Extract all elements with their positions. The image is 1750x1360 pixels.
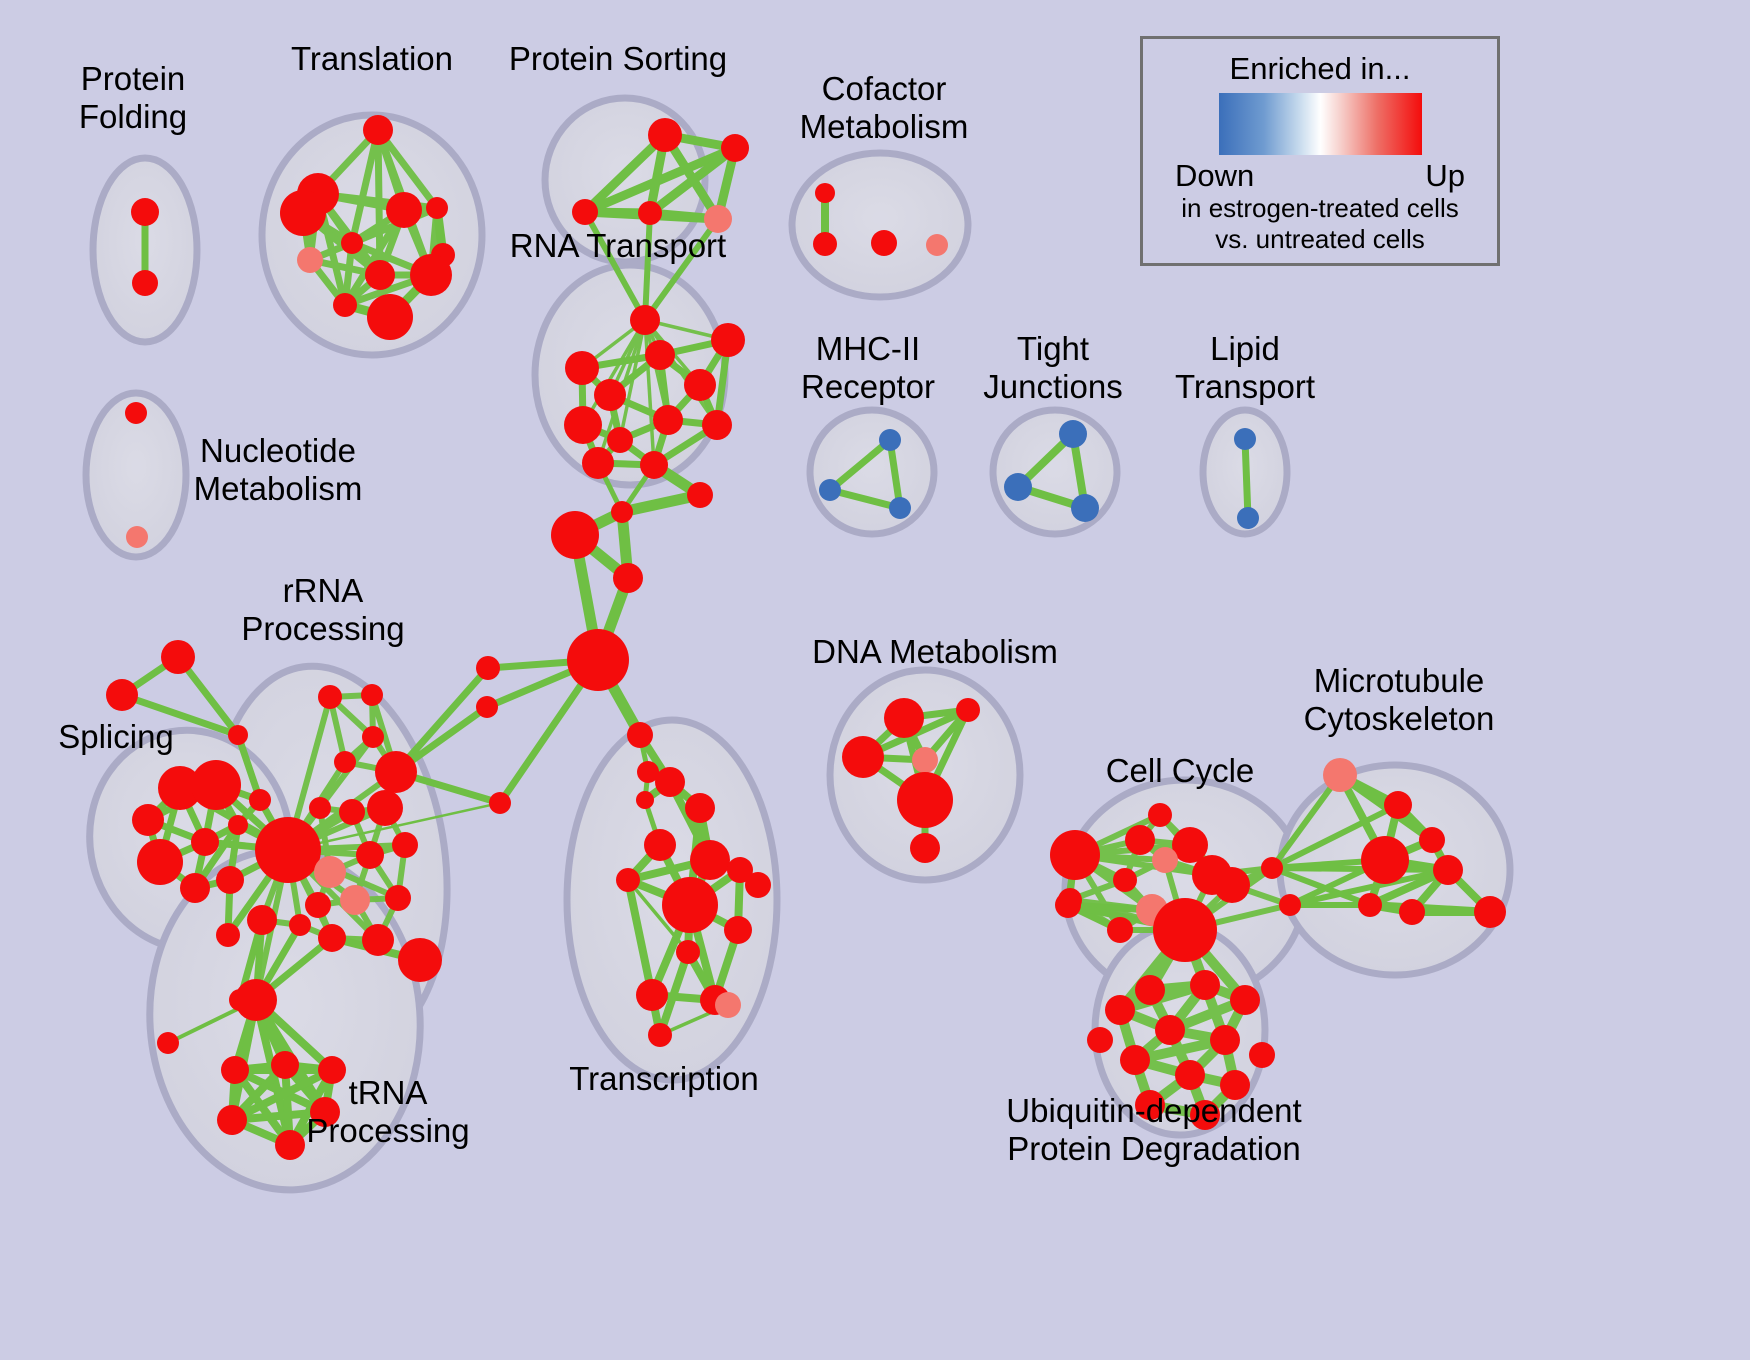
node [362, 924, 394, 956]
node [314, 856, 346, 888]
node [582, 447, 614, 479]
cluster-label-microtubule-cytoskeleton: Microtubule Cytoskeleton [1304, 662, 1495, 738]
node [842, 736, 884, 778]
node [191, 828, 219, 856]
legend-caption-line1: in estrogen-treated cells [1181, 193, 1458, 224]
node [216, 923, 240, 947]
legend-box: Enriched in... Down Up in estrogen-treat… [1140, 36, 1500, 266]
cluster-label-protein-folding: Protein Folding [79, 60, 187, 136]
cluster-label-ubiquitin-degradation: Ubiquitin-dependent Protein Degradation [1006, 1092, 1301, 1168]
node [1105, 995, 1135, 1025]
node [1358, 893, 1382, 917]
cluster-label-transcription: Transcription [569, 1060, 759, 1098]
node [1087, 1027, 1113, 1053]
node [655, 767, 685, 797]
node [180, 873, 210, 903]
node [687, 482, 713, 508]
node [157, 1032, 179, 1054]
node [367, 790, 403, 826]
node [247, 905, 277, 935]
node [630, 305, 660, 335]
node [1419, 827, 1445, 853]
cluster-label-trna-processing: tRNA Processing [306, 1074, 469, 1150]
node [813, 232, 837, 256]
node [662, 877, 718, 933]
legend-title: Enriched in... [1230, 51, 1411, 87]
node [398, 938, 442, 982]
node [1135, 975, 1165, 1005]
node [640, 451, 668, 479]
node [137, 839, 183, 885]
node [676, 940, 700, 964]
node [1399, 899, 1425, 925]
node [1050, 830, 1100, 880]
node [1237, 507, 1259, 529]
node [361, 684, 383, 706]
hull-cofactor [792, 153, 968, 297]
node [879, 429, 901, 451]
node [910, 833, 940, 863]
cluster-label-translation: Translation [291, 40, 453, 78]
node [1361, 836, 1409, 884]
cluster-label-protein-sorting: Protein Sorting [509, 40, 727, 78]
node [564, 406, 602, 444]
node [367, 294, 413, 340]
node [255, 817, 321, 883]
node [228, 725, 248, 745]
node [1230, 985, 1260, 1015]
node [889, 497, 911, 519]
node [1055, 892, 1081, 918]
node [161, 640, 195, 674]
node [318, 924, 346, 952]
node [318, 685, 342, 709]
node [611, 501, 633, 523]
node [1433, 855, 1463, 885]
node [636, 979, 668, 1011]
node [1234, 428, 1256, 450]
legend-caption-line2: vs. untreated cells [1215, 224, 1425, 255]
node [1120, 1045, 1150, 1075]
node [884, 698, 924, 738]
node [410, 254, 452, 296]
node [1249, 1042, 1275, 1068]
node [476, 696, 498, 718]
node [567, 629, 629, 691]
node [1323, 758, 1357, 792]
node [1152, 847, 1178, 873]
node [815, 183, 835, 203]
node [235, 979, 277, 1021]
node [684, 369, 716, 401]
node [297, 247, 323, 273]
node [1214, 867, 1250, 903]
node [385, 885, 411, 911]
legend-low-label: Down [1175, 159, 1254, 193]
node [1175, 1060, 1205, 1090]
node [1155, 1015, 1185, 1045]
node [912, 747, 938, 773]
node [1059, 420, 1087, 448]
node [572, 199, 598, 225]
node [1107, 917, 1133, 943]
cluster-label-lipid-transport: Lipid Transport [1175, 330, 1315, 406]
hull-tight [993, 410, 1117, 534]
node [551, 511, 599, 559]
node [1113, 868, 1137, 892]
node [715, 992, 741, 1018]
node [1004, 473, 1032, 501]
node [132, 270, 158, 296]
node [1210, 1025, 1240, 1055]
node [356, 841, 384, 869]
node [702, 410, 732, 440]
node [956, 698, 980, 722]
cluster-label-rna-transport: RNA Transport [510, 227, 726, 265]
legend-color-gradient-bar [1219, 93, 1422, 155]
node [690, 840, 730, 880]
node [333, 293, 357, 317]
node [221, 1056, 249, 1084]
cluster-label-cofactor-metabolism: Cofactor Metabolism [800, 70, 969, 146]
node [489, 792, 511, 814]
node [339, 799, 365, 825]
node [685, 793, 715, 823]
node [132, 804, 164, 836]
node [426, 197, 448, 219]
node [627, 722, 653, 748]
node [638, 201, 662, 225]
node [341, 232, 363, 254]
node [1279, 894, 1301, 916]
node [594, 379, 626, 411]
node [565, 351, 599, 385]
node [1153, 898, 1217, 962]
node [217, 1105, 247, 1135]
node [653, 405, 683, 435]
cluster-label-rrna-processing: rRNA Processing [241, 572, 404, 648]
cluster-label-mhc-ii-receptor: MHC-II Receptor [801, 330, 935, 406]
node [711, 323, 745, 357]
node [216, 866, 244, 894]
node [616, 868, 640, 892]
node [648, 1023, 672, 1047]
cluster-label-nucleotide-metabolism: Nucleotide Metabolism [194, 432, 363, 508]
node [275, 1130, 305, 1160]
node [871, 230, 897, 256]
node [191, 760, 241, 810]
enrichment-map-figure: Protein Folding Translation Protein Sort… [0, 0, 1750, 1360]
node [648, 118, 682, 152]
node [607, 427, 633, 453]
node [819, 479, 841, 501]
node [1071, 494, 1099, 522]
cluster-label-dna-metabolism: DNA Metabolism [812, 633, 1058, 671]
node [334, 751, 356, 773]
node [249, 789, 271, 811]
node [745, 872, 771, 898]
node [613, 563, 643, 593]
node [476, 656, 500, 680]
node [897, 772, 953, 828]
node [1261, 857, 1283, 879]
node [362, 726, 384, 748]
node [1474, 896, 1506, 928]
hull-mhc [810, 410, 934, 534]
node [363, 115, 393, 145]
node [645, 340, 675, 370]
cluster-label-splicing: Splicing [58, 718, 174, 756]
node [644, 829, 676, 861]
node [280, 190, 326, 236]
node [375, 751, 417, 793]
legend-endpoint-labels: Down Up [1175, 159, 1465, 193]
cluster-label-tight-junctions: Tight Junctions [983, 330, 1122, 406]
cluster-label-cell-cycle: Cell Cycle [1106, 752, 1255, 790]
node [289, 914, 311, 936]
node [271, 1051, 299, 1079]
node [724, 916, 752, 944]
node [228, 815, 248, 835]
node [721, 134, 749, 162]
node [1148, 803, 1172, 827]
node [636, 791, 654, 809]
node [365, 260, 395, 290]
node [392, 832, 418, 858]
node [125, 402, 147, 424]
node [126, 526, 148, 548]
node [340, 885, 370, 915]
legend-high-label: Up [1425, 159, 1465, 193]
node [386, 192, 422, 228]
node [1125, 825, 1155, 855]
node [1190, 970, 1220, 1000]
node [131, 198, 159, 226]
node [309, 797, 331, 819]
node [106, 679, 138, 711]
node [926, 234, 948, 256]
node [305, 892, 331, 918]
node [1384, 791, 1412, 819]
